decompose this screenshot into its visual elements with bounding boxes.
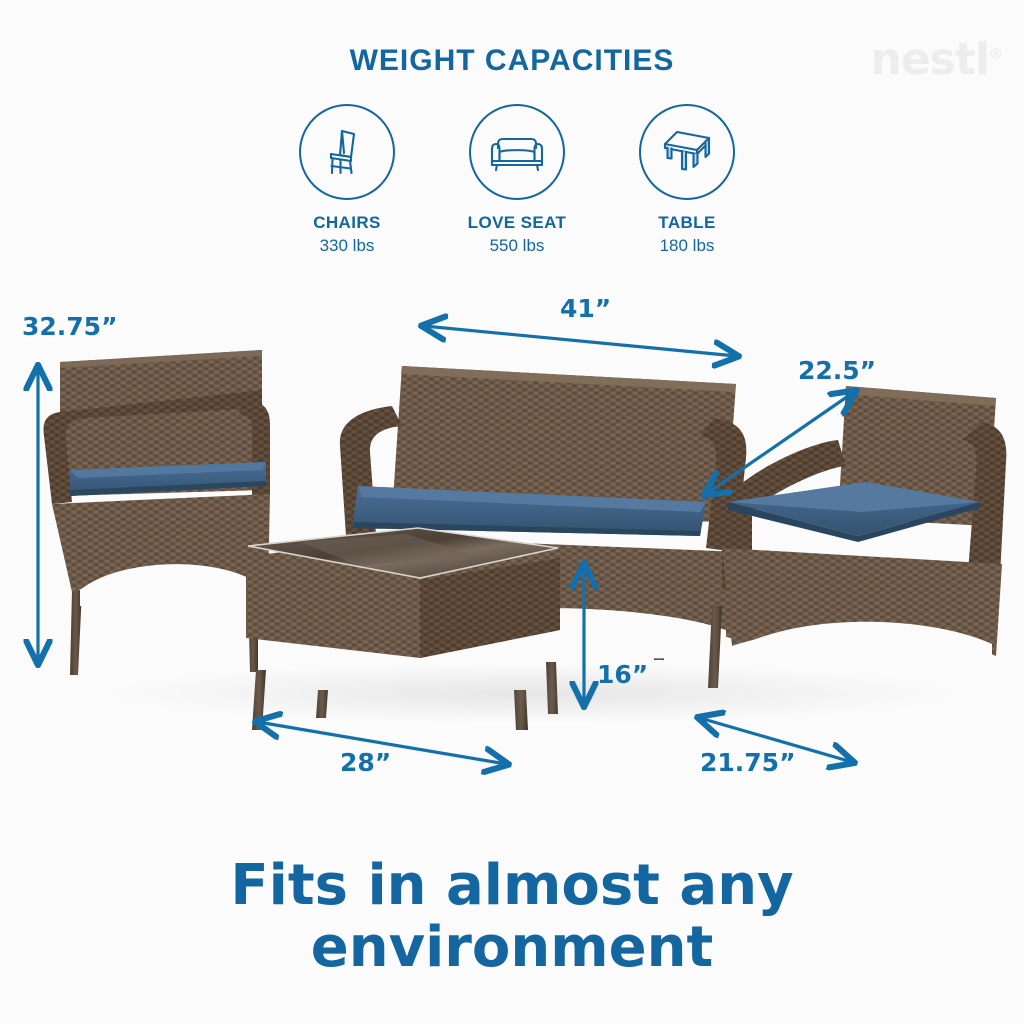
tagline-line-1: Fits in almost any (0, 855, 1024, 918)
tagline: Fits in almost any environment (0, 855, 1024, 980)
tagline-line-2: environment (0, 917, 1024, 980)
dimension-label-loveseat-depth: 22.5” (798, 356, 876, 385)
arrow-width-41 (424, 326, 736, 356)
dimension-label-table-height: 16” (597, 660, 648, 689)
dimension-label-height: 32.75” (22, 312, 118, 341)
arrow-depth-22-5 (706, 392, 854, 494)
infographic-canvas: nestl® WEIGHT CAPACITIES (0, 0, 1024, 1024)
dimension-label-loveseat-width: 41” (560, 294, 611, 323)
dimension-label-chair-depth: 21.75” (700, 748, 796, 777)
dimension-label-table-width: 28” (340, 748, 391, 777)
